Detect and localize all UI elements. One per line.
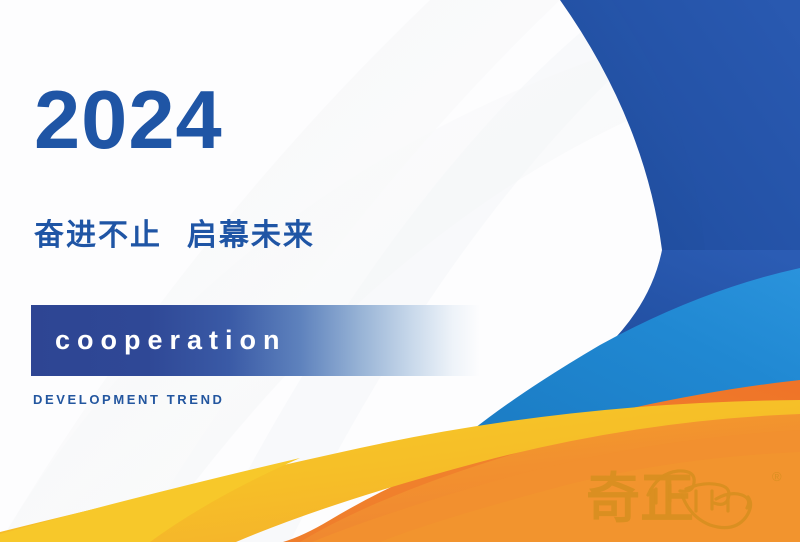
poster-content: 2024 奋进不止 启幕未来 cooperation DEVELOPMENT T… — [0, 0, 800, 542]
cooperation-banner: cooperation — [31, 305, 480, 376]
year-heading: 2024 — [34, 78, 223, 161]
subtitle-development-trend: DEVELOPMENT TREND — [33, 392, 225, 407]
poster-canvas: 2024 奋进不止 启幕未来 cooperation DEVELOPMENT T… — [0, 0, 800, 542]
brand-chinese-text: 奇正 — [586, 467, 694, 530]
brand-watermark: 奇正 ® — [586, 455, 792, 531]
cooperation-label: cooperation — [55, 324, 287, 355]
chinese-headline: 奋进不止 启幕未来 — [34, 218, 315, 254]
brand-logo-svg: 奇正 ® — [586, 455, 792, 531]
registered-mark: ® — [772, 469, 782, 484]
